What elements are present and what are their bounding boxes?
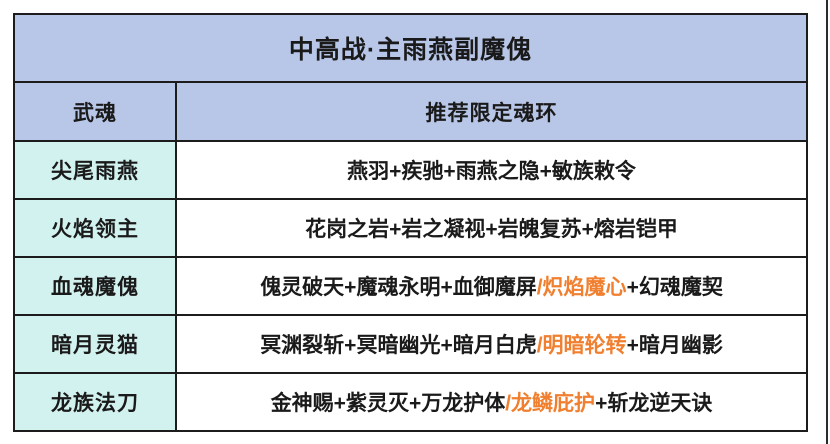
rings-cell: 花岗之岩+岩之凝视+岩魄复苏+熔岩铠甲 bbox=[176, 199, 807, 257]
page-right-margin-rule bbox=[826, 0, 828, 444]
rings-text-suffix: +幻魂魔契 bbox=[627, 276, 723, 299]
table-row: 尖尾雨燕 燕羽+疾驰+雨燕之隐+敏族敕令 bbox=[14, 141, 807, 199]
soul-name-cell: 血魂魔傀 bbox=[14, 257, 176, 315]
rings-text-primary: 冥渊裂斩+冥暗幽光+暗月白虎 bbox=[260, 334, 537, 357]
table-row: 血魂魔傀 傀灵破天+魔魂永明+血御魔屏/炽焰魔心+幻魂魔契 bbox=[14, 257, 807, 315]
soul-name-cell: 龙族法刀 bbox=[14, 373, 176, 431]
rings-text-primary: 燕羽+疾驰+雨燕之隐+敏族敕令 bbox=[347, 160, 636, 183]
soul-name-cell: 火焰领主 bbox=[14, 199, 176, 257]
column-header-recommended-rings: 推荐限定魂环 bbox=[176, 82, 807, 141]
rings-cell: 冥渊裂斩+冥暗幽光+暗月白虎/明暗轮转+暗月幽影 bbox=[176, 315, 807, 373]
page-canvas: 中高战·主雨燕副魔傀 武魂 推荐限定魂环 尖尾雨燕 燕羽+疾驰+雨燕之隐+敏族敕… bbox=[0, 0, 830, 444]
rings-text-alternate: /炽焰魔心 bbox=[537, 276, 627, 299]
rings-cell: 燕羽+疾驰+雨燕之隐+敏族敕令 bbox=[176, 141, 807, 199]
column-header-soul: 武魂 bbox=[14, 82, 176, 141]
rings-text-primary: 金神赐+紫灵灭+万龙护体 bbox=[271, 392, 506, 415]
rings-text-alternate: /明暗轮转 bbox=[537, 334, 627, 357]
table-header-row: 武魂 推荐限定魂环 bbox=[14, 82, 807, 141]
rings-text-primary: 傀灵破天+魔魂永明+血御魔屏 bbox=[260, 276, 537, 299]
table-title-row: 中高战·主雨燕副魔傀 bbox=[14, 14, 807, 82]
soul-name-cell: 尖尾雨燕 bbox=[14, 141, 176, 199]
table-title: 中高战·主雨燕副魔傀 bbox=[14, 14, 807, 82]
table-row: 火焰领主 花岗之岩+岩之凝视+岩魄复苏+熔岩铠甲 bbox=[14, 199, 807, 257]
rings-text-suffix: +斩龙逆天诀 bbox=[595, 392, 712, 415]
rings-cell: 金神赐+紫灵灭+万龙护体/龙鳞庇护+斩龙逆天诀 bbox=[176, 373, 807, 431]
table-row: 龙族法刀 金神赐+紫灵灭+万龙护体/龙鳞庇护+斩龙逆天诀 bbox=[14, 373, 807, 431]
soul-name-cell: 暗月灵猫 bbox=[14, 315, 176, 373]
rings-text-primary: 花岗之岩+岩之凝视+岩魄复苏+熔岩铠甲 bbox=[305, 218, 678, 241]
rings-text-alternate: /龙鳞庇护 bbox=[505, 392, 595, 415]
soul-ring-recommendation-table: 中高战·主雨燕副魔傀 武魂 推荐限定魂环 尖尾雨燕 燕羽+疾驰+雨燕之隐+敏族敕… bbox=[13, 13, 808, 432]
table-row: 暗月灵猫 冥渊裂斩+冥暗幽光+暗月白虎/明暗轮转+暗月幽影 bbox=[14, 315, 807, 373]
rings-text-suffix: +暗月幽影 bbox=[627, 334, 723, 357]
rings-cell: 傀灵破天+魔魂永明+血御魔屏/炽焰魔心+幻魂魔契 bbox=[176, 257, 807, 315]
